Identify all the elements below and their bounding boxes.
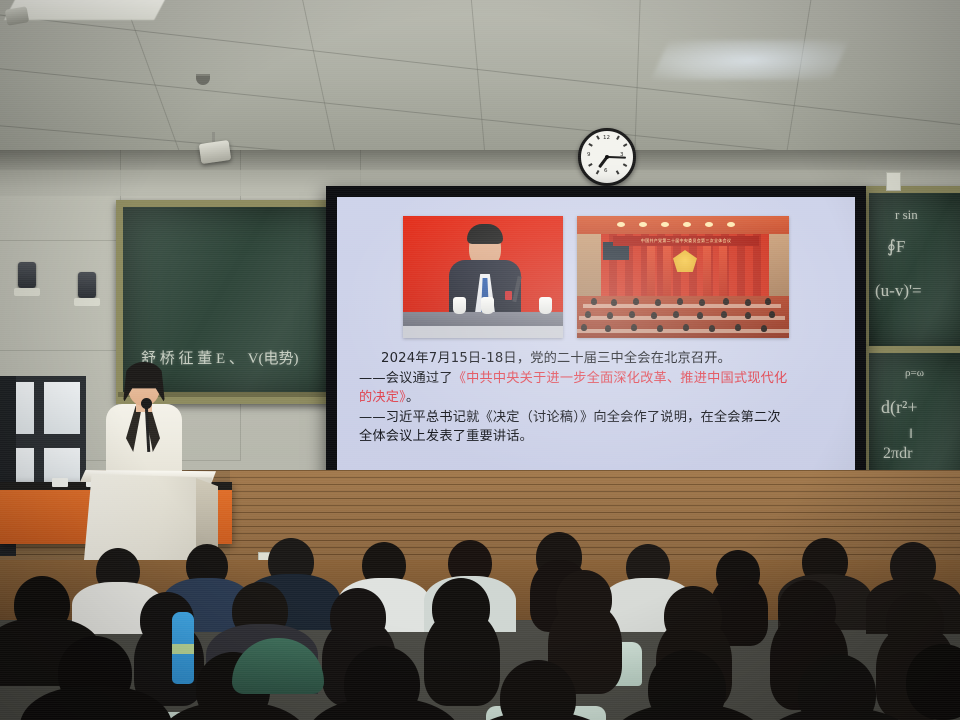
desk-item[interactable] <box>52 478 68 487</box>
lecture-hall-photo: 12 3 6 9 舒 桥 征 董 E 、 V(电势) r sin ∮F (u-v… <box>0 0 960 720</box>
audience-shoulders <box>608 704 768 720</box>
slide-content: 中国共产党第二十届中央委员会第三次全体会议 <box>337 197 855 485</box>
audience-seating <box>0 520 960 720</box>
wall-speaker-icon <box>18 262 36 288</box>
wall-switch-plate[interactable] <box>886 172 901 191</box>
blackboard-left-chalk-text: 舒 桥 征 董 E 、 V(电势) <box>141 347 299 368</box>
slide-heading-line: 2024年7月15日-18日，党的二十届三中全会在北京召开。 <box>359 349 837 369</box>
slide-bullet-1-cont: 的决定》。 <box>359 388 837 408</box>
bullet-1-emphasis-cont: 的决定》 <box>359 390 406 405</box>
lecturer-body <box>106 404 182 480</box>
slide-bullet-1: ——会议通过了《中共中央关于进一步全面深化改革、推进中国式现代化 <box>359 369 837 389</box>
bullet-1-suffix: 。 <box>406 390 419 405</box>
ceiling-light-reflection <box>651 40 849 80</box>
water-bottle-label <box>172 644 194 654</box>
clock-center-pin <box>605 155 609 159</box>
wall-speaker-bracket <box>14 288 40 296</box>
slide-photo-speaker <box>403 216 563 338</box>
projector-icon <box>199 140 231 164</box>
plenary-banner-text: 中国共产党第二十届中央委员会第三次全体会议 <box>613 236 759 246</box>
bullet-1-emphasis: 《中共中央关于进一步全面深化改革、推进中国式现代化 <box>453 371 788 386</box>
slide-photo-plenary: 中国共产党第二十届中央委员会第三次全体会议 <box>577 216 789 338</box>
clock-minute-hand <box>607 156 626 159</box>
blackboard-right-upper: r sin ∮F (u-v)'= <box>862 186 960 356</box>
wall-speaker-bracket <box>74 298 100 306</box>
projection-screen: 中国共产党第二十届中央委员会第三次全体会议 <box>326 186 866 496</box>
bullet-1-prefix: ——会议通过了 <box>359 371 453 386</box>
wall-clock: 12 3 6 9 <box>578 128 636 186</box>
glasses-icon <box>130 382 158 390</box>
microphone-icon <box>141 398 152 409</box>
slide-bullet-2-line1: ——习近平总书记就《决定（讨论稿）》向全会作了说明，在全会第二次 <box>359 408 837 428</box>
audience-hair <box>424 610 500 706</box>
wall-speaker-icon <box>78 272 96 298</box>
slide-text-block: 2024年7月15日-18日，党的二十届三中全会在北京召开。 ——会议通过了《中… <box>359 349 837 447</box>
slide-bullet-2-line2: 全体会议上发表了重要讲话。 <box>359 427 837 447</box>
